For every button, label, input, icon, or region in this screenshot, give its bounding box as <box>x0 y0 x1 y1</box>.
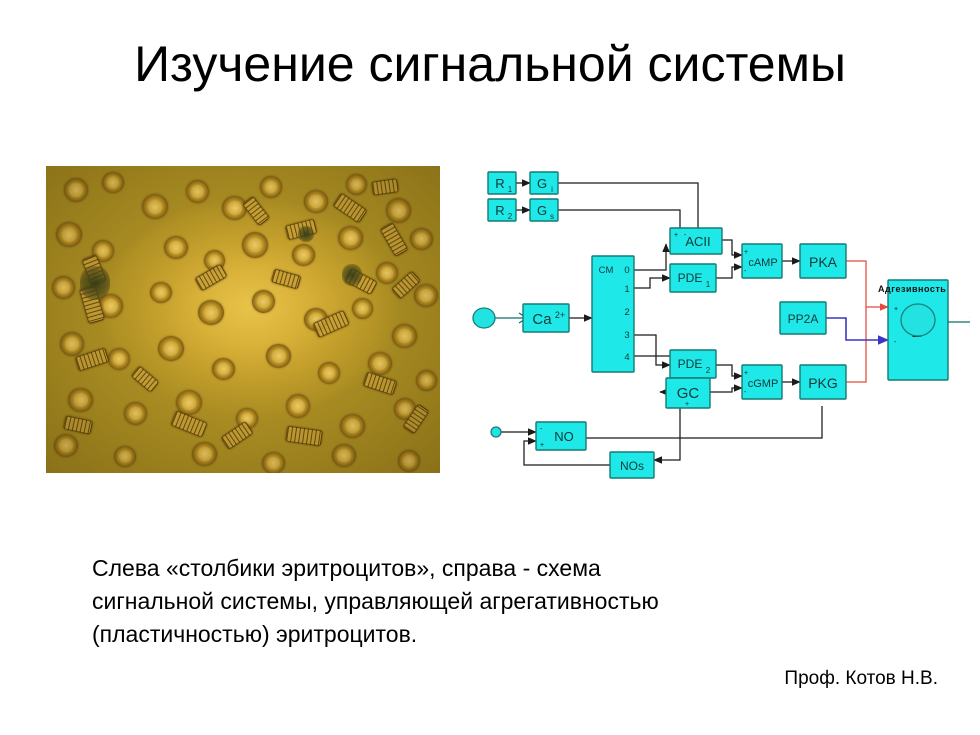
svg-text:2: 2 <box>706 366 711 375</box>
node-gi: G i <box>530 172 558 194</box>
svg-text:NO: NO <box>554 429 574 444</box>
svg-text:NOs: NOs <box>620 459 644 473</box>
node-pde1: PDE 1 <box>670 264 716 292</box>
sign-plus-no: + <box>540 442 544 449</box>
output-node-adhesion <box>898 300 938 340</box>
svg-text:2+: 2+ <box>555 310 565 320</box>
node-gc: GC + <box>666 378 710 408</box>
svg-text:cAMP: cAMP <box>748 257 777 269</box>
svg-text:PKA: PKA <box>809 254 838 270</box>
svg-text:CM: CM <box>599 265 614 276</box>
node-pde2: PDE 2 <box>670 350 716 378</box>
svg-text:R: R <box>495 176 504 191</box>
svg-text:2: 2 <box>508 212 513 221</box>
sign-plus-gc: + <box>685 401 689 408</box>
svg-text:1: 1 <box>624 284 629 295</box>
node-pka: PKA <box>800 244 846 278</box>
svg-text:PDE: PDE <box>678 271 703 285</box>
svg-text:s: s <box>550 212 554 221</box>
svg-text:PP2A: PP2A <box>788 312 819 326</box>
node-gs: G s <box>530 199 558 221</box>
node-acii: ACII + - <box>670 228 722 254</box>
wire-acii-camp <box>722 240 742 255</box>
wire-pde2-cgmp <box>716 365 742 376</box>
wire-no-out <box>586 406 822 438</box>
page-title: Изучение сигнальной системы <box>0 34 980 94</box>
svg-text:G: G <box>537 176 547 191</box>
svg-text:3: 3 <box>624 330 629 341</box>
node-cgmp: cGMP + - <box>742 365 782 399</box>
sign-plus-acii: + <box>674 232 678 239</box>
svg-text:4: 4 <box>624 352 629 363</box>
node-camp: cAMP + - <box>742 244 782 278</box>
wire-cm3-pde2 <box>634 335 670 365</box>
node-cm: CM 0 1 2 3 4 <box>592 256 634 372</box>
caption-line-3: (пластичностью) эритроцитов. <box>92 618 892 651</box>
node-nos: NOs <box>610 452 654 478</box>
wire-cm0-acii <box>634 244 666 270</box>
micrograph-image <box>46 166 440 473</box>
node-ca: Ca 2+ <box>523 304 569 332</box>
caption-line-2: сигнальной системы, управляющей агрегати… <box>92 585 892 618</box>
wire-cm1-pde1 <box>634 278 670 288</box>
signalling-system-diagram: R 1 R 2 G i G s Ca 2+ CM 0 1 2 3 4 ACII <box>470 160 970 500</box>
svg-text:PDE: PDE <box>678 357 703 371</box>
svg-text:PKG: PKG <box>808 375 838 391</box>
wire-pkg-b-plus <box>846 307 866 382</box>
wire-pp2a-b-minus <box>826 318 888 340</box>
caption-line-1: Слева «столбики эритроцитов», справа - с… <box>92 552 892 585</box>
svg-text:1: 1 <box>508 185 513 194</box>
attribution-text: Проф. Котов Н.В. <box>0 668 938 690</box>
node-r1: R 1 <box>488 172 516 194</box>
wire-gs-acii <box>558 210 680 228</box>
node-no: NO - + <box>536 422 586 450</box>
svg-text:R: R <box>495 203 504 218</box>
sign-plus-cgmp: + <box>744 370 748 377</box>
svg-text:Ca: Ca <box>532 311 552 328</box>
svg-text:i: i <box>551 185 553 194</box>
svg-text:ACII: ACII <box>685 234 710 249</box>
svg-text:2: 2 <box>624 307 629 318</box>
slide-caption: Слева «столбики эритроцитов», справа - с… <box>92 552 892 651</box>
sign-plus-camp: + <box>744 249 748 256</box>
node-pp2a: PP2A <box>780 302 826 334</box>
input-node-ca <box>473 308 495 328</box>
svg-text:GC: GC <box>677 385 700 402</box>
svg-text:cGMP: cGMP <box>748 378 779 390</box>
adhesion-output-label: Адгезивность <box>878 284 946 294</box>
wire-pde1-camp <box>716 267 742 278</box>
input-node-no <box>491 427 501 437</box>
wire-gi-acii <box>558 183 698 228</box>
erythrocyte-field <box>46 166 440 473</box>
svg-text:0: 0 <box>624 265 629 276</box>
node-pkg: PKG <box>800 365 846 399</box>
svg-text:1: 1 <box>706 280 711 289</box>
node-r2: R 2 <box>488 199 516 221</box>
svg-text:G: G <box>537 203 547 218</box>
